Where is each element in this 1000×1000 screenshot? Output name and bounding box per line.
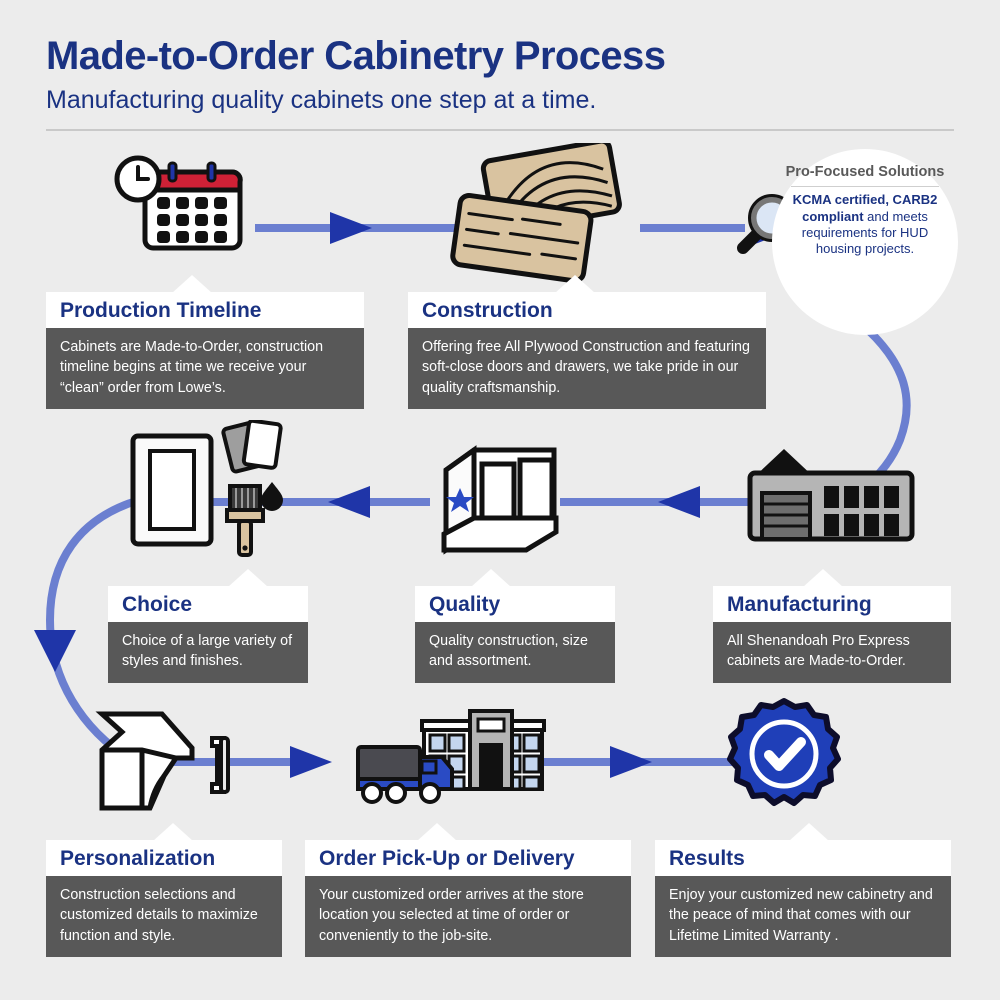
card-notch (789, 823, 829, 841)
wood-planks-icon (440, 143, 660, 293)
arrow-left-1 (658, 486, 700, 518)
card-title: Construction (408, 292, 766, 328)
door-swatches-brush-icon (120, 420, 300, 580)
cabinet-star-icon (430, 440, 570, 560)
arrow-right-4 (610, 746, 652, 778)
card-title: Production Timeline (46, 292, 364, 328)
card-title: Choice (108, 586, 308, 622)
card-notch (803, 569, 843, 587)
arrow-right-1 (330, 212, 372, 244)
card-description: Choice of a large variety of styles and … (108, 622, 308, 683)
step-card-manufacturing[interactable]: Manufacturing All Shenandoah Pro Express… (713, 586, 951, 683)
molding-handle-icon (80, 690, 260, 820)
card-notch (417, 823, 457, 841)
step-card-production-timeline[interactable]: Production Timeline Cabinets are Made-to… (46, 292, 364, 409)
card-description: Quality construction, size and assortmen… (415, 622, 615, 683)
pro-focused-callout: Pro-Focused Solutions KCMA certified, CA… (772, 149, 958, 335)
factory-icon (740, 445, 930, 560)
card-title: Results (655, 840, 951, 876)
card-title: Quality (415, 586, 615, 622)
card-notch (172, 275, 212, 293)
card-title: Order Pick-Up or Delivery (305, 840, 631, 876)
card-description: Your customized order arrives at the sto… (305, 876, 631, 957)
step-card-order-pickup-or-delivery[interactable]: Order Pick-Up or Delivery Your customize… (305, 840, 631, 957)
callout-divider (791, 186, 939, 187)
card-description: Enjoy your customized new cabinetry and … (655, 876, 951, 957)
step-card-choice[interactable]: Choice Choice of a large variety of styl… (108, 586, 308, 683)
arrow-left-2 (328, 486, 370, 518)
infographic-canvas: Made-to-Order Cabinetry Process Manufact… (0, 0, 1000, 1000)
card-notch (555, 275, 595, 293)
card-description: Offering free All Plywood Construction a… (408, 328, 766, 409)
arrow-right-3 (290, 746, 332, 778)
card-notch (228, 569, 268, 587)
card-title: Personalization (46, 840, 282, 876)
step-card-results[interactable]: Results Enjoy your customized new cabine… (655, 840, 951, 957)
callout-title: Pro-Focused Solutions (786, 163, 945, 181)
card-notch (153, 823, 193, 841)
truck-store-icon (350, 695, 550, 810)
callout-text: KCMA certified, CARB2 compliant and meet… (784, 192, 946, 258)
card-title: Manufacturing (713, 586, 951, 622)
arrow-down-1 (34, 630, 76, 672)
step-card-personalization[interactable]: Personalization Construction selections … (46, 840, 282, 957)
step-card-construction[interactable]: Construction Offering free All Plywood C… (408, 292, 766, 409)
card-description: Construction selections and customized d… (46, 876, 282, 957)
check-badge-icon (722, 697, 847, 817)
card-description: Cabinets are Made-to-Order, construction… (46, 328, 364, 409)
step-card-quality[interactable]: Quality Quality construction, size and a… (415, 586, 615, 683)
calendar-clock-icon (100, 155, 270, 275)
card-notch (471, 569, 511, 587)
card-description: All Shenandoah Pro Express cabinets are … (713, 622, 951, 683)
